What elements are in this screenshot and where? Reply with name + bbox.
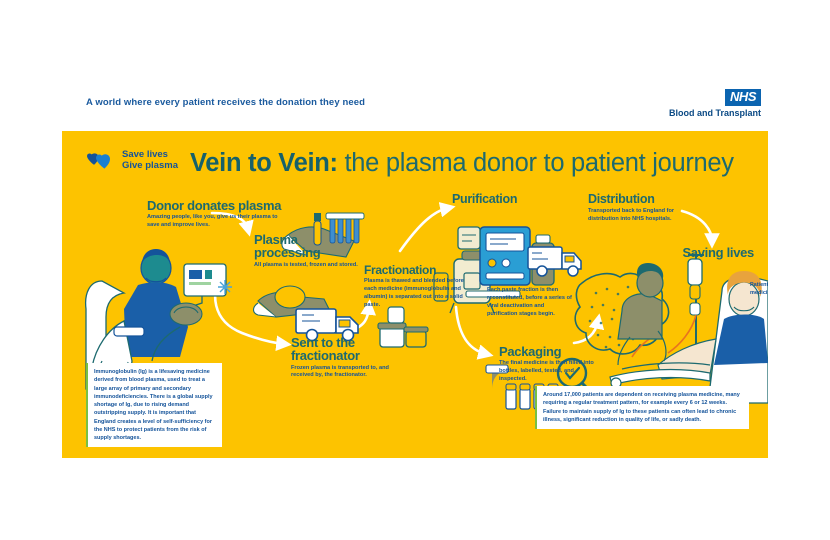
step-heading: Donor donates plasma bbox=[147, 199, 287, 212]
step-body: Transported back to England for distribu… bbox=[588, 208, 692, 224]
page-title: Vein to Vein: the plasma donor to patien… bbox=[190, 149, 734, 178]
step-heading: Purification bbox=[452, 193, 572, 206]
fact-box-immunoglobulin: Immunoglobulin (Ig) is a lifesaving medi… bbox=[86, 363, 222, 447]
step-heading: Saving lives bbox=[678, 246, 754, 259]
map-illustration bbox=[575, 274, 668, 354]
step-body: Amazing people, like you, give us their … bbox=[147, 214, 287, 230]
poster-panel: Save lives Give plasma Vein to Vein: the… bbox=[62, 131, 768, 458]
distribution-van-illustration bbox=[528, 245, 581, 276]
fact-box-patients: Around 17,000 patients are dependent on … bbox=[535, 386, 749, 429]
step-packaging: Packaging The final medicine is then fil… bbox=[499, 345, 595, 384]
logo-line-2: Give plasma bbox=[122, 161, 178, 172]
step-heading: Packaging bbox=[499, 345, 595, 358]
nhs-logo: NHS Blood and Transplant bbox=[669, 88, 761, 118]
step-plasma-processing: Plasma processing All plasma is tested, … bbox=[254, 233, 358, 269]
step-distribution: Distribution Transported back to England… bbox=[588, 193, 692, 224]
step-body: All plasma is tested, frozen and stored. bbox=[254, 262, 358, 270]
step-heading: Fractionation bbox=[364, 264, 468, 276]
infographic-page: A world where every patient receives the… bbox=[0, 0, 830, 540]
step-body: The final medicine is then filled into b… bbox=[499, 360, 595, 384]
step-body: Patient receives their plasma medicine. bbox=[750, 282, 768, 298]
step-donor-donates-plasma: Donor donates plasma Amazing people, lik… bbox=[147, 199, 287, 230]
step-saving-lives: Saving lives bbox=[678, 246, 754, 259]
step-saving-lives-body-wrap: Patient receives their plasma medicine. bbox=[750, 282, 768, 298]
step-body: Frozen plasma is transported to, and rec… bbox=[291, 365, 399, 381]
hearts-icon bbox=[86, 149, 116, 173]
step-sent-to-the-fractionator: Sent to the fractionator Frozen plasma i… bbox=[291, 336, 399, 380]
tagline: A world where every patient receives the… bbox=[86, 97, 365, 108]
step-heading: Plasma processing bbox=[254, 233, 358, 260]
step-body: Each paste fraction is then reconstitute… bbox=[487, 287, 573, 319]
patient-illustration bbox=[610, 255, 768, 403]
step-body: Plasma is thawed and blended before each… bbox=[364, 278, 468, 310]
step-fractionation: Fractionation Plasma is thawed and blend… bbox=[364, 264, 468, 310]
step-heading: Sent to the fractionator bbox=[291, 336, 399, 363]
nhs-sub-label: Blood and Transplant bbox=[669, 108, 761, 118]
step-heading: Distribution bbox=[588, 193, 692, 206]
step-purification-body-wrap: Each paste fraction is then reconstitute… bbox=[487, 287, 573, 319]
title-rest: the plasma donor to patient journey bbox=[338, 149, 734, 177]
step-purification: Purification bbox=[452, 193, 572, 206]
save-lives-give-plasma-logo: Save lives Give plasma bbox=[86, 149, 178, 173]
nhs-badge: NHS bbox=[725, 89, 761, 106]
title-bold: Vein to Vein: bbox=[190, 149, 338, 177]
logo-text: Save lives Give plasma bbox=[122, 150, 178, 171]
